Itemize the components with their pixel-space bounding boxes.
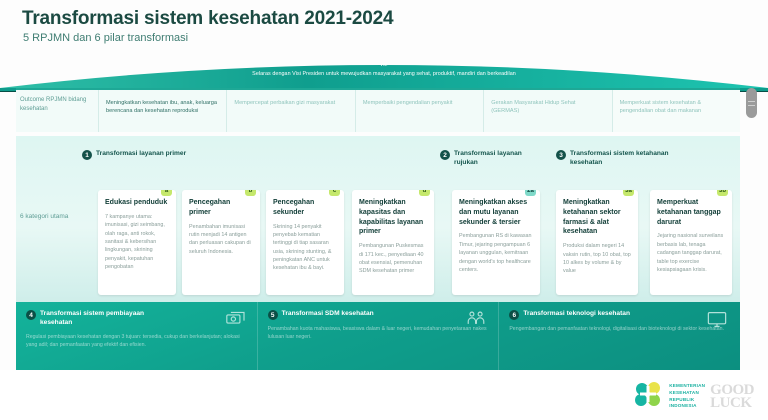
ministry-line-2: KESEHATAN — [669, 390, 705, 397]
card-2a[interactable]: 2a Meningkatkan akses dan mutu layanan s… — [452, 190, 540, 295]
pillar-5-header: 5 Transformasi SDM kesehatan — [268, 310, 489, 320]
outcome-column: Mempercepat perbaikan gizi masyarakat — [226, 90, 354, 132]
goodluck-line-2: LUCK — [710, 397, 754, 409]
ministry-line-4: INDONESIA — [669, 403, 705, 410]
card-body: 7 kampanye utama: imunisasi, gizi seimba… — [105, 213, 169, 272]
card-1d[interactable]: d Meningkatkan kapasitas dan kapabilitas… — [352, 190, 434, 295]
card-body: Skrining 14 penyakit penyebab kematian t… — [273, 223, 337, 273]
card-title: Meningkatkan ketahanan sektor farmasi & … — [563, 198, 631, 237]
roof-vis-label: visi — [0, 62, 768, 67]
card-title: Memperkuat ketahanan tanggap darurat — [657, 198, 725, 227]
card-title: Edukasi penduduk — [105, 198, 169, 208]
card-badge: d — [419, 190, 430, 196]
card-title: Meningkatkan akses dan mutu layanan seku… — [459, 198, 533, 227]
card-3b[interactable]: 3b Memperkuat ketahanan tanggap darurat … — [650, 190, 732, 295]
outcome-column: Gerakan Masyarakat Hidup Sehat (GERMAS) — [483, 90, 611, 132]
people-icon — [466, 310, 486, 333]
kemenkes-wordmark: KEMENTERIAN KESEHATAN REPUBLIK INDONESIA — [669, 383, 705, 411]
pillar-body: Pengembangan dan pemanfaatan teknologi, … — [509, 325, 730, 333]
card-title: Pencegahan primer — [189, 198, 253, 218]
outcome-band: Outcome RPJMN bidang kesehatan Meningkat… — [16, 88, 740, 132]
outcome-column: Memperbaiki pengendalian penyakit — [355, 90, 483, 132]
card-body: Pembangunan Puskesmas di 171 kec., penye… — [359, 242, 427, 276]
pillar-label: Transformasi sistem ketahanan kesehatan — [570, 150, 686, 168]
card-body: Jejaring nasional surveilans berbasis la… — [657, 232, 725, 274]
scroll-grip-line — [748, 105, 755, 106]
ministry-line-1: KEMENTERIAN — [669, 383, 705, 390]
good-luck-graphic: GOOD LUCK — [710, 384, 754, 409]
scroll-grip-line — [748, 101, 755, 102]
money-icon — [225, 310, 245, 333]
card-body: Produksi dalam negeri 14 vaksin rutin, t… — [563, 242, 631, 276]
pillar-6[interactable]: 6 Transformasi teknologi kesehatan Penge… — [499, 302, 740, 370]
pillar-4-header: 4 Transformasi sistem pembiayaan kesehat… — [26, 310, 247, 328]
card-title: Pencegahan sekunder — [273, 198, 337, 218]
card-body: Penambahan imunisasi rutin menjadi 14 an… — [189, 223, 253, 257]
card-title: Meningkatkan kapasitas dan kapabilitas l… — [359, 198, 427, 237]
card-badge: 3a — [623, 190, 634, 196]
card-body: Pembangunan RS di kawasan Timur, jejarin… — [459, 232, 533, 274]
pillar-number: 2 — [440, 150, 450, 160]
pillar-header-1: 1 Transformasi layanan primer — [82, 150, 262, 160]
card-badge: 3b — [717, 190, 728, 196]
page-subtitle: 5 RPJMN dan 6 pilar transformasi — [23, 32, 188, 44]
pillar-number: 3 — [556, 150, 566, 160]
footer-logo-group: KEMENTERIAN KESEHATAN REPUBLIK INDONESIA… — [634, 380, 754, 413]
kemenkes-flower-logo — [634, 380, 664, 413]
card-3a[interactable]: 3a Meningkatkan ketahanan sektor farmasi… — [556, 190, 638, 295]
pillar-6-header: 6 Transformasi teknologi kesehatan — [509, 310, 730, 320]
monitor-icon — [706, 310, 728, 334]
pillar-5[interactable]: 5 Transformasi SDM kesehatan Penambahan … — [258, 302, 500, 370]
pillar-header-2: 2 Transformasi layanan rujukan — [440, 150, 545, 168]
card-badge: c — [329, 190, 340, 196]
pillar-body: Penambahan kuota mahasiswa, beasiswa dal… — [268, 325, 489, 342]
scrollbar-thumb[interactable] — [746, 88, 757, 118]
kategori-utama-label: 6 kategori utama — [20, 212, 86, 222]
outcome-columns: Meningkatkan kesehatan ibu, anak, keluar… — [98, 90, 740, 132]
pillar-number: 5 — [268, 310, 278, 320]
roof-shape — [0, 48, 768, 92]
page-title: Transformasi sistem kesehatan 2021-2024 — [22, 8, 393, 30]
outcome-column: Meningkatkan kesehatan ibu, anak, keluar… — [98, 90, 226, 132]
card-badge: b — [245, 190, 256, 196]
ministry-line-3: REPUBLIK — [669, 397, 705, 404]
infographic-canvas: Transformasi sistem kesehatan 2021-2024 … — [0, 0, 768, 420]
card-badge: 2a — [525, 190, 536, 196]
card-1c[interactable]: c Pencegahan sekunder Skrining 14 penyak… — [266, 190, 344, 295]
pillar-number: 1 — [82, 150, 92, 160]
card-badge: a — [161, 190, 172, 196]
outcome-column: Memperkuat sistem kesehatan & pengendali… — [612, 90, 740, 132]
pillar-label: Transformasi teknologi kesehatan — [523, 310, 630, 319]
roof-banner: visi Selaras dengan Visi Presiden untuk … — [0, 48, 768, 92]
outcome-band-label: Outcome RPJMN bidang kesehatan — [16, 90, 98, 132]
card-1b[interactable]: b Pencegahan primer Penambahan imunisasi… — [182, 190, 260, 295]
pillar-label: Transformasi layanan primer — [96, 150, 186, 159]
bottom-pillars: 4 Transformasi sistem pembiayaan kesehat… — [16, 302, 740, 370]
pillar-body: Regulasi pembiayaan kesehatan dengan 3 t… — [26, 333, 247, 350]
card-1a[interactable]: a Edukasi penduduk 7 kampanye utama: imu… — [98, 190, 176, 295]
pillar-number: 4 — [26, 310, 36, 320]
pillar-header-3: 3 Transformasi sistem ketahanan kesehata… — [556, 150, 686, 168]
pillar-number: 6 — [509, 310, 519, 320]
pillar-4[interactable]: 4 Transformasi sistem pembiayaan kesehat… — [16, 302, 258, 370]
pillar-label: Transformasi sistem pembiayaan kesehatan — [40, 310, 155, 328]
roof-vision-text: Selaras dengan Visi Presiden untuk mewuj… — [120, 71, 648, 78]
pillar-label: Transformasi layanan rujukan — [454, 150, 545, 168]
pillar-label: Transformasi SDM kesehatan — [282, 310, 374, 319]
